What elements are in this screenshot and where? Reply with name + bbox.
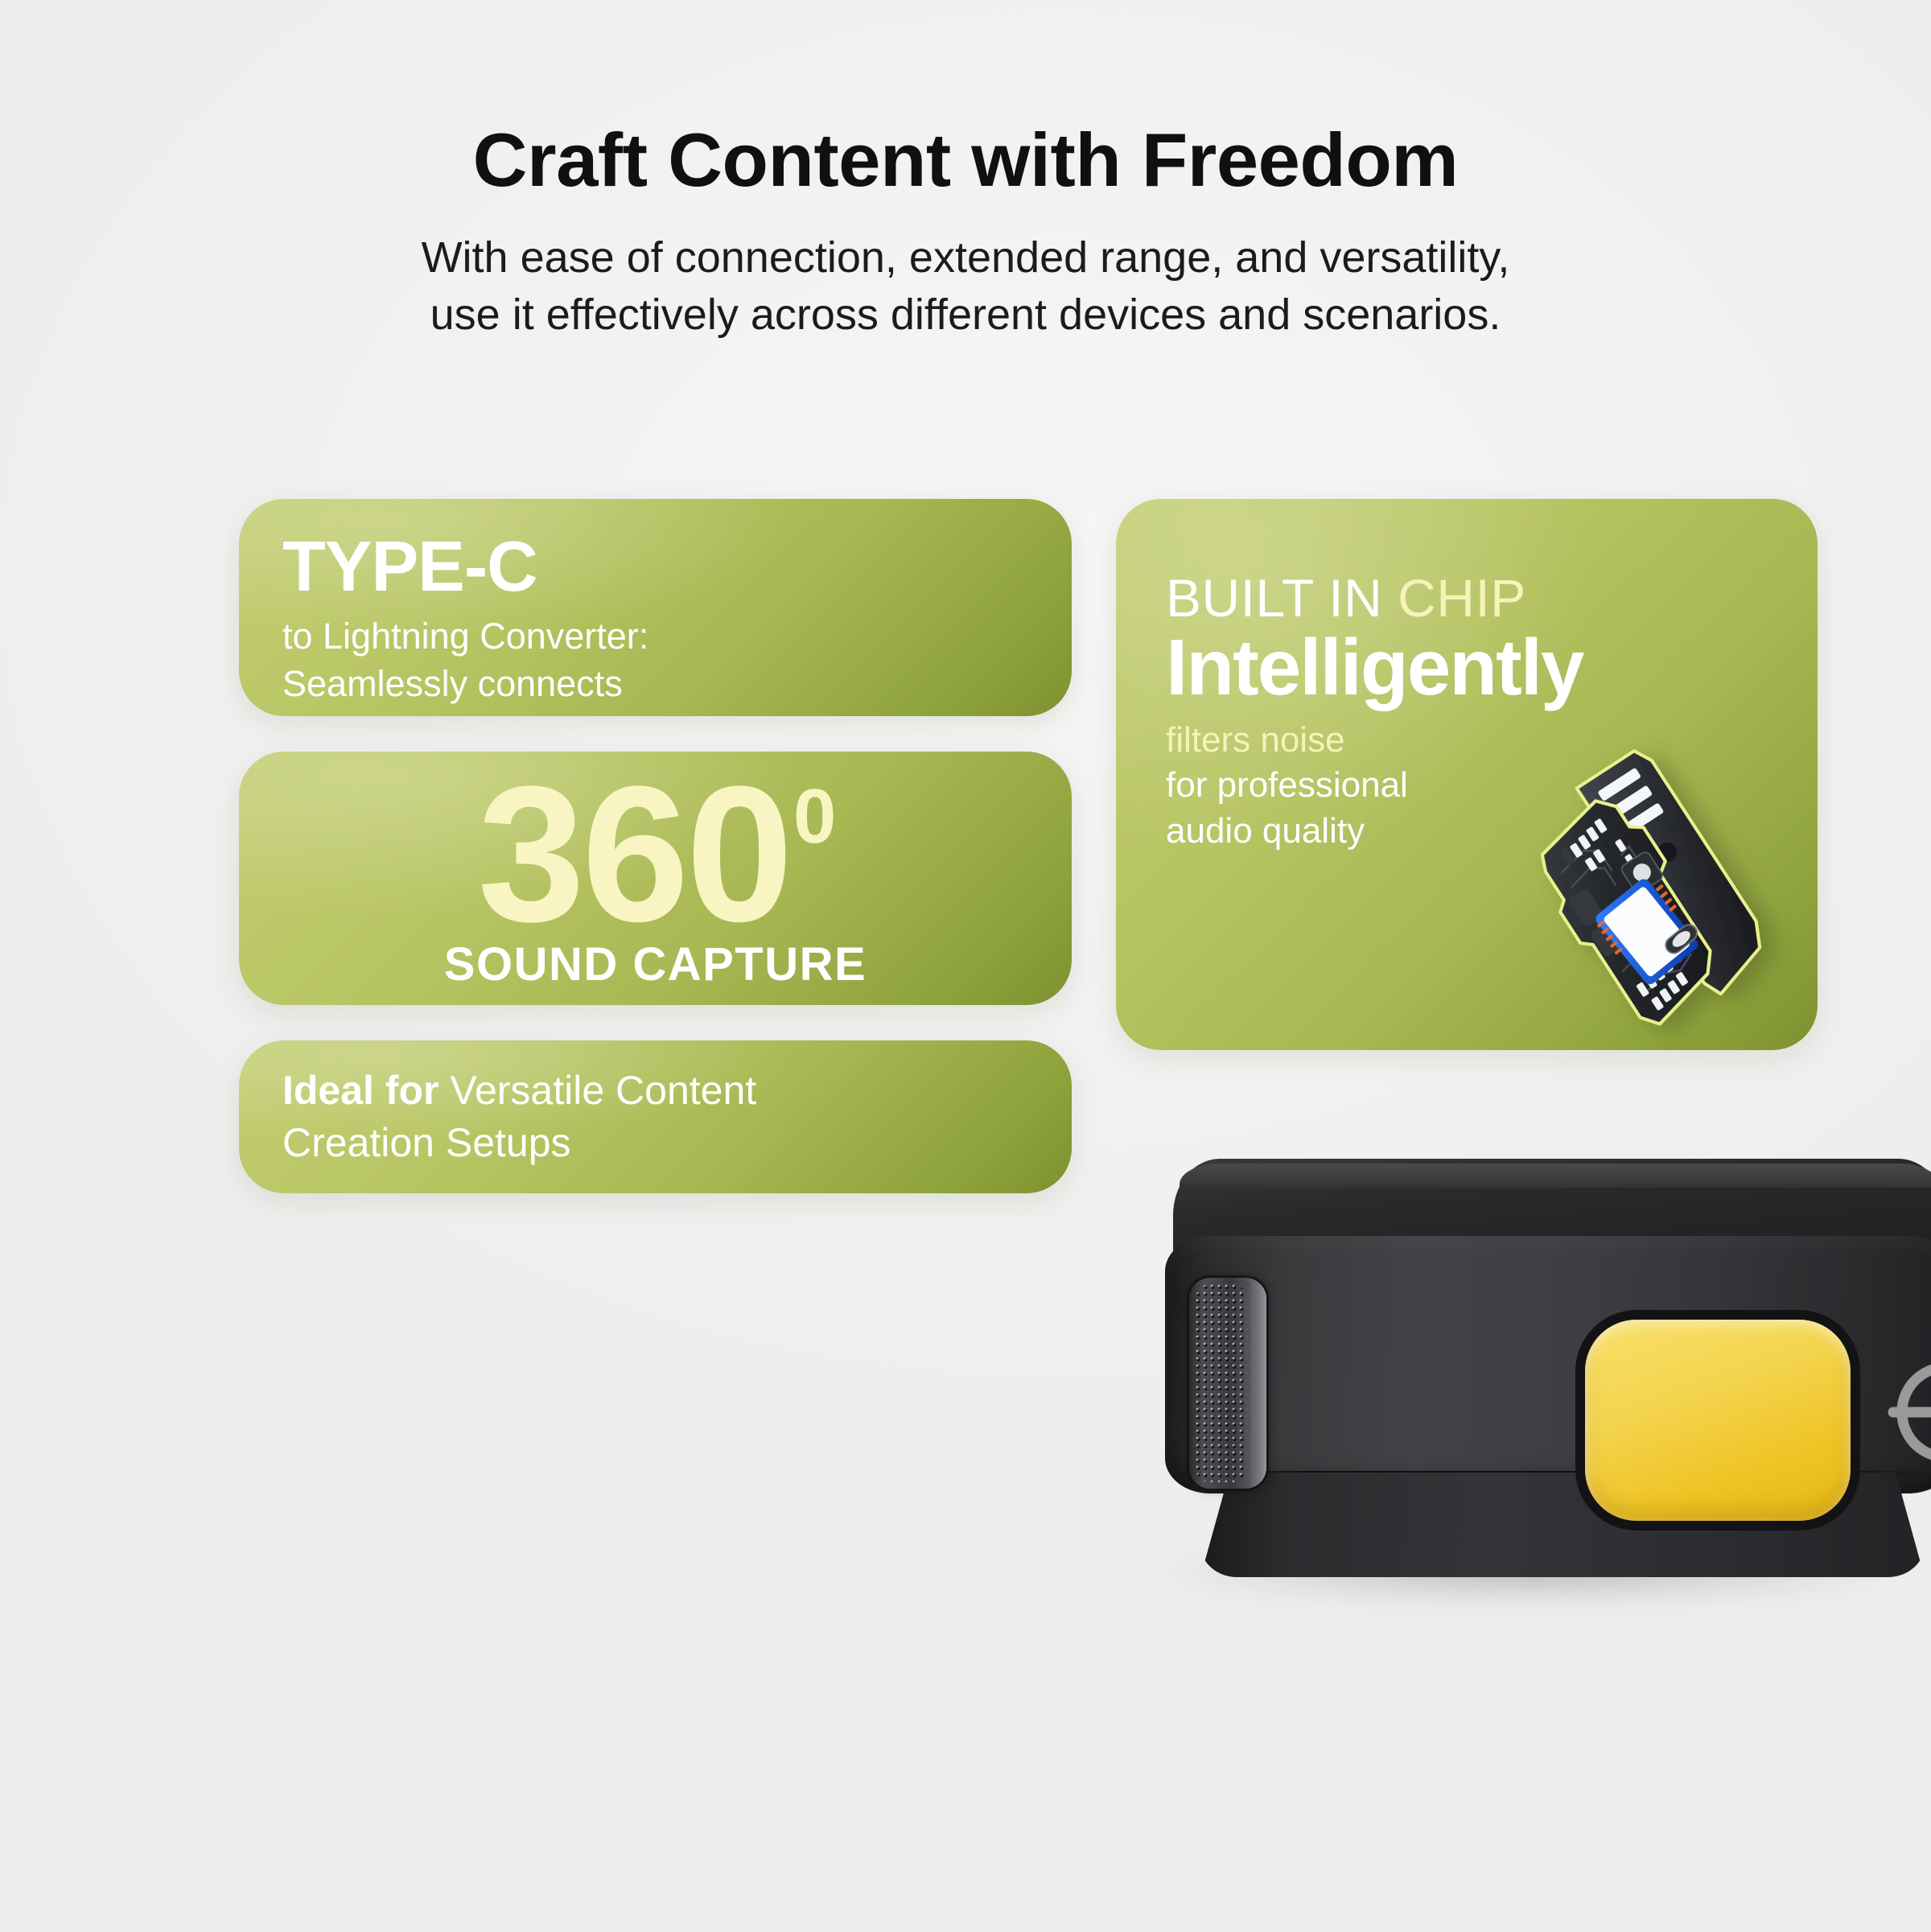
type-c-line-1: to Lightning Converter: — [282, 613, 1028, 661]
chip-subtext-line-3: audio quality — [1166, 809, 1818, 854]
page-subtitle-line-1: With ease of connection, extended range,… — [0, 229, 1931, 286]
record-button[interactable] — [1585, 1320, 1851, 1521]
knurl-texture — [1196, 1284, 1247, 1482]
ideal-for-bold-prefix: Ideal for — [282, 1068, 450, 1113]
header: Craft Content with Freedom With ease of … — [0, 121, 1931, 344]
ideal-for-text: Ideal for Versatile Content Creation Set… — [282, 1065, 756, 1169]
type-c-line-2: Seamlessly connects — [282, 661, 1028, 708]
page-subtitle-line-2: use it effectively across different devi… — [0, 286, 1931, 344]
chip-kicker: BUILT IN CHIP — [1166, 571, 1818, 624]
chip-kicker-white: BUILT IN — [1166, 568, 1398, 628]
type-c-line-3-prefix: with — [282, 710, 357, 716]
feature-card-column: TYPE-C to Lightning Converter: Seamlessl… — [239, 499, 1072, 1193]
page-subtitle: With ease of connection, extended range,… — [0, 229, 1931, 344]
ideal-for-rest-1: Versatile Content — [450, 1068, 756, 1113]
product-device-stage — [1070, 1110, 1931, 1690]
wireless-microphone-transmitter — [1151, 1159, 1931, 1577]
sound-capture-content: 360 0 SOUND CAPTURE — [239, 752, 1072, 1005]
chip-subtext-line-2: for professional — [1166, 763, 1818, 808]
type-c-line-3-highlight: Android and iOS devices. — [357, 710, 796, 716]
feature-card-built-in-chip[interactable]: BUILT IN CHIP Intelligently filters nois… — [1116, 499, 1818, 1050]
sound-capture-label: SOUND CAPTURE — [444, 937, 867, 991]
chip-kicker-cream: CHIP — [1398, 568, 1526, 628]
ideal-for-line-1: Ideal for Versatile Content — [282, 1065, 756, 1117]
device-top-lip — [1180, 1164, 1931, 1188]
clip-highlight — [1250, 1278, 1266, 1489]
chip-subtext-line-1: filters noise — [1166, 718, 1818, 763]
type-c-description: to Lightning Converter: Seamlessly conne… — [282, 613, 1028, 716]
chip-card-text: BUILT IN CHIP Intelligently filters nois… — [1116, 499, 1818, 854]
feature-card-type-c[interactable]: TYPE-C to Lightning Converter: Seamlessl… — [239, 499, 1072, 716]
chip-subtext: filters noise for professional audio qua… — [1166, 718, 1818, 854]
knurled-clip-grip[interactable] — [1189, 1278, 1266, 1489]
ideal-for-line-2: Creation Setups — [282, 1117, 756, 1169]
type-c-heading: TYPE-C — [282, 531, 1028, 602]
chip-headline: Intelligently — [1166, 628, 1818, 708]
feature-card-ideal-for[interactable]: Ideal for Versatile Content Creation Set… — [239, 1040, 1072, 1193]
sound-capture-number-group: 360 0 — [478, 773, 834, 936]
page-title: Craft Content with Freedom — [0, 121, 1931, 200]
power-icon[interactable] — [1879, 1344, 1931, 1481]
degree-symbol: 0 — [793, 778, 833, 855]
sound-capture-number: 360 — [478, 773, 790, 936]
type-c-line-3: with Android and iOS devices. — [282, 707, 1028, 716]
feature-card-360-sound-capture[interactable]: 360 0 SOUND CAPTURE — [239, 752, 1072, 1005]
